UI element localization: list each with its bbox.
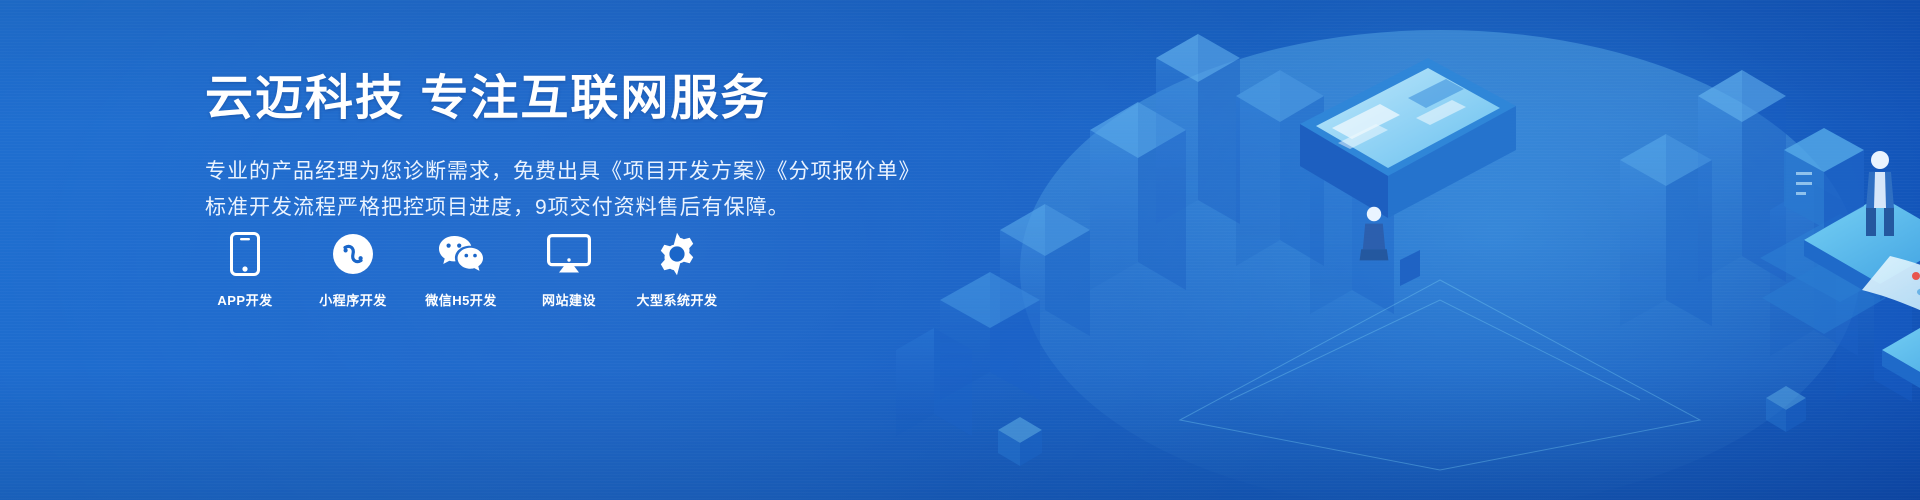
service-label: 大型系统开发 [636,290,717,309]
service-item-wechat-h5[interactable]: 微信H5开发 [419,232,503,309]
subtitle-line-2: 标准开发流程严格把控项目进度，9项交付资料售后有保障。 [205,190,905,226]
illustration [880,0,1920,500]
monitor-icon [547,232,591,276]
hero-copy: 云迈科技 专注互联网服务 专业的产品经理为您诊断需求，免费出具《项目开发方案》《… [205,70,905,226]
service-label: 小程序开发 [319,290,387,309]
service-label: 微信H5开发 [425,290,497,309]
wechat-icon [437,232,485,276]
service-item-app[interactable]: APP开发 [203,232,287,309]
service-item-mini-program[interactable]: 小程序开发 [311,232,395,309]
mobile-phone-icon [230,232,260,276]
hero-banner: 云迈科技 专注互联网服务 专业的产品经理为您诊断需求，免费出具《项目开发方案》《… [0,0,1920,500]
service-item-large-system[interactable]: 大型系统开发 [635,232,719,309]
subtitle-line-1: 专业的产品经理为您诊断需求，免费出具《项目开发方案》《分项报价单》 [205,154,905,190]
hero-subtitle: 专业的产品经理为您诊断需求，免费出具《项目开发方案》《分项报价单》 标准开发流程… [205,154,905,226]
service-label: 网站建设 [542,290,596,309]
service-label: APP开发 [217,290,272,309]
mini-program-icon [332,232,374,276]
page-title: 云迈科技 专注互联网服务 [205,70,905,128]
service-item-website[interactable]: 网站建设 [527,232,611,309]
service-list: APP开发 小程序开发 [203,232,719,309]
gear-icon [655,232,699,276]
